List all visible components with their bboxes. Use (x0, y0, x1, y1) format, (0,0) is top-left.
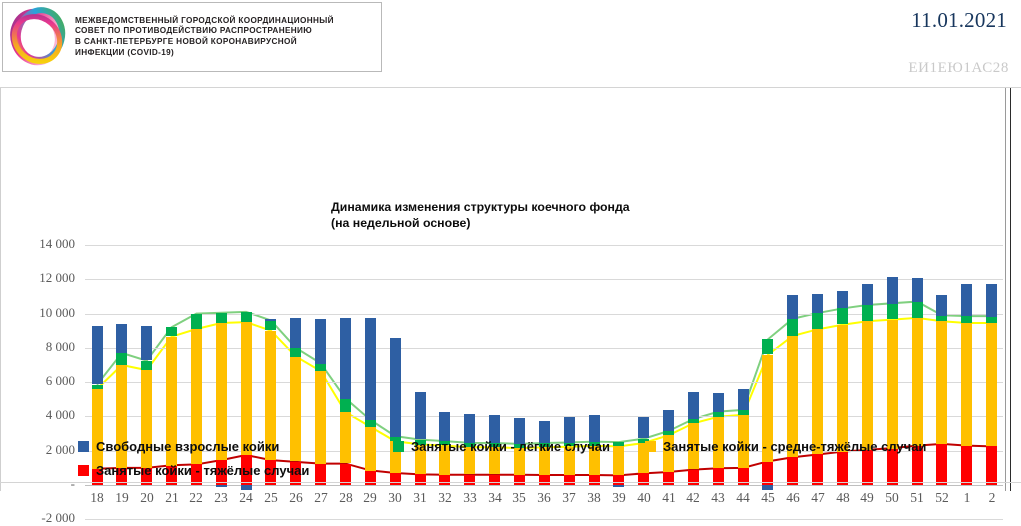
bar-segment-free (92, 326, 103, 384)
legend-swatch-icon (78, 441, 89, 452)
x-axis-tick-label: 48 (830, 490, 856, 506)
legend-moderate-cases[interactable]: Занятые койки - средне-тяжёлые случаи (645, 439, 926, 454)
bar-segment-free (315, 319, 326, 364)
bar-segment-light (713, 412, 724, 417)
bar-segment-free (390, 338, 401, 437)
bar-segment-free (961, 284, 972, 316)
x-axis-tick-label: 18 (84, 490, 110, 506)
bar-segment-free (365, 318, 376, 420)
bar-segment-light (762, 339, 773, 354)
bar-segment-light (787, 319, 798, 336)
x-axis-tick-label: 23 (208, 490, 234, 506)
bar-segment-light (241, 312, 252, 322)
x-axis-tick-label: 34 (482, 490, 508, 506)
legend-label: Занятые койки - средне-тяжёлые случаи (663, 439, 926, 454)
bar-segment-light (265, 320, 276, 330)
x-axis-tick-label: 43 (705, 490, 731, 506)
bar-segment-free (265, 319, 276, 321)
org-title-line-1: МЕЖВЕДОМСТВЕННЫЙ ГОРОДСКОЙ КООРДИНАЦИОНН… (75, 16, 334, 27)
y-axis-tick-label: 4 000 (1, 407, 75, 423)
bar-segment-free (663, 410, 674, 431)
y-axis-tick-label: 12 000 (1, 270, 75, 286)
legend-swatch-icon (78, 465, 89, 476)
bar-segment-light (738, 410, 749, 415)
bar-segment-light (216, 313, 227, 323)
bar-segment-free (116, 324, 127, 353)
x-axis-tick-label: 19 (109, 490, 135, 506)
bar-segment-light (365, 420, 376, 427)
x-axis-tick-label: 38 (581, 490, 607, 506)
legend-light-cases[interactable]: Занятые койки - лёгкие случаи (393, 439, 610, 454)
legend-label: Занятые койки - тяжёлые случаи (96, 463, 309, 478)
x-axis-tick-label: 40 (631, 490, 657, 506)
bar-segment-light (340, 398, 351, 412)
bar-segment-light (887, 303, 898, 319)
bar-segment-moderate (912, 318, 923, 446)
x-axis-tick-label: 32 (432, 490, 458, 506)
x-axis-tick-label: 50 (879, 490, 905, 506)
organization-header-box: МЕЖВЕДОМСТВЕННЫЙ ГОРОДСКОЙ КООРДИНАЦИОНН… (2, 2, 382, 72)
x-axis-tick-label: 26 (283, 490, 309, 506)
bar-segment-light (961, 316, 972, 323)
bar-segment-free (812, 294, 823, 313)
bar-segment-free (912, 278, 923, 302)
org-title-line-3: В САНКТ-ПЕТЕРБУРГЕ НОВОЙ КОРОНАВИРУСНОЙ (75, 37, 334, 48)
x-axis-tick-label: 51 (904, 490, 930, 506)
x-axis-tick-label: 24 (233, 490, 259, 506)
y-axis-tick-label: 8 000 (1, 339, 75, 355)
frame-border-outer (1010, 88, 1011, 491)
gridline (85, 245, 1003, 246)
bar-segment-light (837, 308, 848, 324)
bar-segment-free (738, 389, 749, 410)
watermark-code: ЕИ1ЕЮ1АС28 (908, 60, 1009, 77)
bar-segment-free (837, 291, 848, 308)
bar-segment-moderate (961, 323, 972, 446)
x-axis-tick-label: 28 (333, 490, 359, 506)
org-title-line-4: ИНФЕКЦИИ (COVID-19) (75, 48, 334, 59)
chart-container: Динамика изменения структуры коечного фо… (0, 88, 1015, 491)
bar-segment-free (862, 284, 873, 305)
bar-segment-free (887, 277, 898, 304)
x-axis-tick-label: 41 (656, 490, 682, 506)
x-axis-tick-label: 25 (258, 490, 284, 506)
gridline (85, 279, 1003, 280)
organization-title: МЕЖВЕДОМСТВЕННЫЙ ГОРОДСКОЙ КООРДИНАЦИОНН… (73, 16, 334, 58)
slide-header: МЕЖВЕДОМСТВЕННЫЙ ГОРОДСКОЙ КООРДИНАЦИОНН… (0, 0, 1021, 88)
x-axis-tick-label: 47 (805, 490, 831, 506)
legend-label: Свободные взрослые койки (96, 439, 279, 454)
bar-segment-light (862, 305, 873, 321)
bar-segment-light (912, 302, 923, 318)
x-axis-tick-label: 21 (159, 490, 185, 506)
bar-segment-light (191, 314, 202, 329)
bar-segment-light (663, 431, 674, 435)
y-axis-tick-label: -2 000 (1, 510, 75, 526)
bar-segment-free (415, 392, 426, 439)
legend-label: Занятые койки - лёгкие случаи (411, 439, 610, 454)
report-date: 11.01.2021 (911, 8, 1007, 33)
bar-segment-free (688, 392, 699, 419)
bar-segment-free (713, 393, 724, 412)
y-axis-tick-label: 6 000 (1, 373, 75, 389)
x-axis-tick-label: 29 (357, 490, 383, 506)
x-axis-tick-label: 44 (730, 490, 756, 506)
y-axis-tick-label: 14 000 (1, 236, 75, 252)
bar-segment-free (787, 295, 798, 319)
multicolor-ring-logo-icon (3, 5, 73, 69)
x-axis-tick-label: 30 (382, 490, 408, 506)
y-axis-tick-label: 10 000 (1, 305, 75, 321)
x-axis-tick-label: 22 (183, 490, 209, 506)
bar-segment-moderate (812, 329, 823, 454)
bar-segment-light (166, 327, 177, 336)
bar-segment-free (986, 284, 997, 317)
bar-segment-moderate (241, 322, 252, 455)
bar-segment-light (92, 385, 103, 389)
x-axis-tick-label: 52 (929, 490, 955, 506)
bar-segment-light (986, 316, 997, 323)
x-axis-tick-label: 1 (954, 490, 980, 506)
legend-swatch-icon (393, 441, 404, 452)
bar-segment-moderate (887, 320, 898, 449)
chart-plot-area: 14 00012 00010 0008 0006 0004 0002 000--… (1, 88, 1015, 491)
x-axis-tick-label: 33 (457, 490, 483, 506)
legend-divider (0, 482, 1021, 483)
x-axis-tick-label: 37 (556, 490, 582, 506)
legend-free-beds[interactable]: Свободные взрослые койки (78, 439, 279, 454)
bar-segment-free (290, 318, 301, 348)
bar-segment-light (290, 348, 301, 357)
bar-segment-free (141, 326, 152, 360)
bar-segment-moderate (936, 321, 947, 444)
x-axis-tick-label: 27 (308, 490, 334, 506)
bar-segment-light (116, 353, 127, 365)
x-axis-tick-label: 2 (979, 490, 1005, 506)
x-axis-tick-label: 36 (531, 490, 557, 506)
x-axis-tick-label: 46 (780, 490, 806, 506)
bar-segment-moderate (862, 321, 873, 450)
bar-segment-light (812, 313, 823, 329)
bar-segment-light (315, 363, 326, 371)
bar-segment-light (688, 419, 699, 423)
x-axis-tick-label: 20 (134, 490, 160, 506)
legend-severe-cases[interactable]: Занятые койки - тяжёлые случаи (78, 463, 309, 478)
x-axis-tick-label: 45 (755, 490, 781, 506)
frame-border-inner (1005, 88, 1006, 491)
x-axis-tick-label: 39 (606, 490, 632, 506)
x-axis-tick-label: 42 (680, 490, 706, 506)
x-axis-tick-label: 35 (506, 490, 532, 506)
org-title-line-2: СОВЕТ ПО ПРОТИВОДЕЙСТВИЮ РАСПРОСТРАНЕНИЮ (75, 26, 334, 37)
slide-root: МЕЖВЕДОМСТВЕННЫЙ ГОРОДСКОЙ КООРДИНАЦИОНН… (0, 0, 1021, 491)
bar-segment-moderate (837, 325, 848, 452)
bar-segment-free (638, 417, 649, 438)
bar-segment-free (340, 318, 351, 399)
gridline (85, 519, 1003, 520)
x-axis-tick-label: 49 (854, 490, 880, 506)
legend-swatch-icon (645, 441, 656, 452)
bar-segment-moderate (986, 323, 997, 446)
bar-segment-free (936, 295, 947, 316)
x-axis-tick-label: 31 (407, 490, 433, 506)
bar-segment-light (141, 361, 152, 370)
